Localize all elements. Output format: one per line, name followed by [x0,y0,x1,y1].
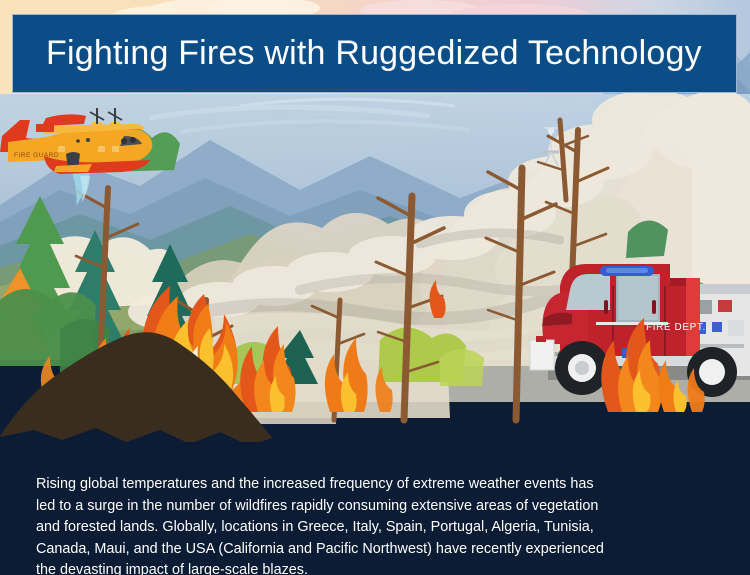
fire-truck-label: FIRE DEPT. [646,322,706,333]
body-paragraph: Rising global temperatures and the incre… [36,474,606,575]
title-banner: Fighting Fires with Ruggedized Technolog… [12,14,737,93]
slide-canvas: FIRE DEPT. [0,0,750,575]
airplane-label: FIRE GUARD [14,152,59,159]
page-title: Fighting Fires with Ruggedized Technolog… [46,35,702,72]
